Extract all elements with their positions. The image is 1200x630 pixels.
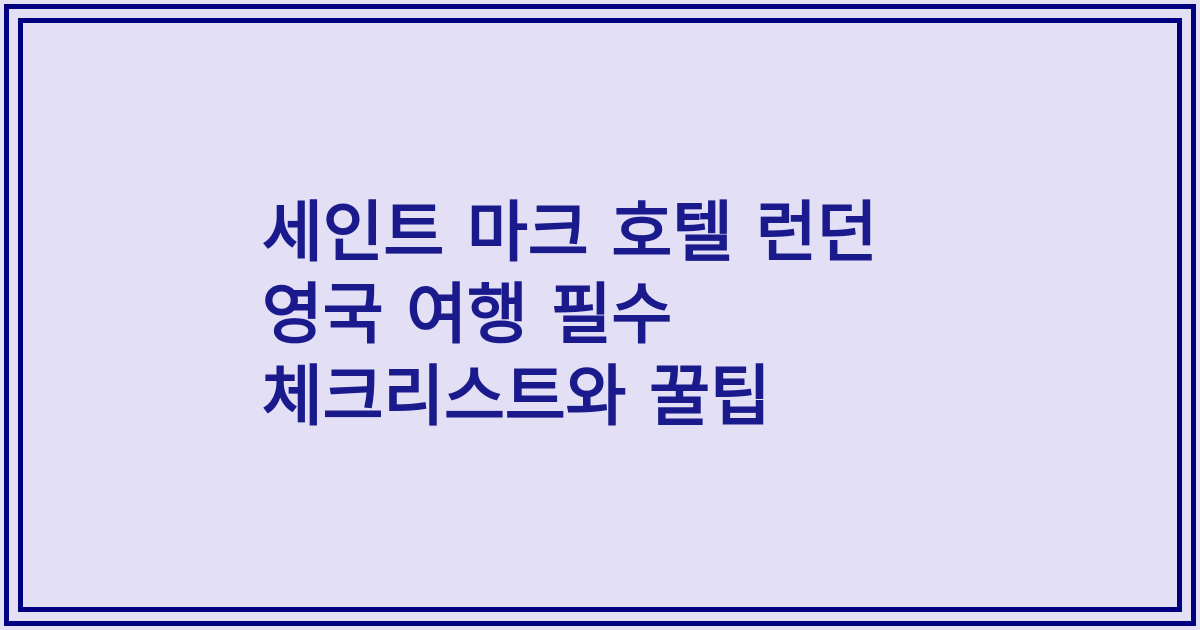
title-block: 세인트 마크 호텔 런던 영국 여행 필수 체크리스트와 꿀팁	[0, 0, 1200, 630]
page-title: 세인트 마크 호텔 런던 영국 여행 필수 체크리스트와 꿀팁	[262, 192, 938, 438]
og-image-card: 세인트 마크 호텔 런던 영국 여행 필수 체크리스트와 꿀팁	[0, 0, 1200, 630]
